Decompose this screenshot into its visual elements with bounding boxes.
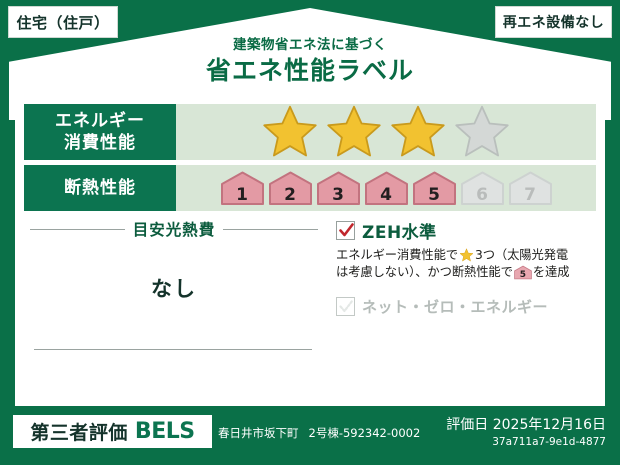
- energy-performance-label: 住宅（住戸） 再エネ設備なし 建築物省エネ法に基づく 省エネ性能ラベル エネルギ…: [0, 0, 620, 465]
- inline-star-icon: [459, 248, 474, 262]
- star-filled-icon: [261, 104, 319, 160]
- insulation-level-number: 5: [412, 187, 457, 204]
- insulation-level-5: 5: [412, 170, 457, 206]
- insulation-level-3: 3: [316, 170, 361, 206]
- insulation-level-2: 2: [268, 170, 313, 206]
- evaluation-id: 37a711a7-9e1d-4877: [446, 436, 606, 448]
- utility-cost-section: 目安光熱費 なし: [24, 218, 324, 368]
- nze-label: ネット・ゼロ・エネルギー: [362, 296, 548, 317]
- insulation-performance-label: 断熱性能: [24, 165, 176, 211]
- label-footer: 第三者評価 BELS 春日井市坂下町2号棟-592342-0002 評価日 20…: [0, 406, 620, 465]
- insulation-level-number: 4: [364, 187, 409, 204]
- inline-house-number: 5: [514, 271, 532, 280]
- insulation-performance-row: 断熱性能 1234567: [24, 165, 596, 211]
- zeh-desc-part1: エネルギー消費性能で: [336, 248, 458, 262]
- zeh-desc-part2: 3つ（太陽光発電: [475, 248, 568, 262]
- star-rating: [261, 104, 511, 160]
- address-text: 春日井市坂下町: [218, 426, 299, 440]
- bels-jp-text: 第三者評価: [30, 418, 128, 445]
- zeh-desc-part4: を達成: [533, 265, 570, 279]
- evaluation-date: 評価日 2025年12月16日: [446, 414, 606, 434]
- energy-label-line2: 消費性能: [64, 132, 136, 154]
- energy-performance-label: エネルギー 消費性能: [24, 104, 176, 160]
- rule-right: [223, 229, 318, 230]
- insulation-level-6: 6: [460, 170, 505, 206]
- utility-cost-header: 目安光熱費: [24, 218, 324, 240]
- insulation-level-number: 1: [220, 187, 265, 204]
- rule-bottom: [34, 349, 312, 350]
- property-address: 春日井市坂下町2号棟-592342-0002: [218, 425, 420, 441]
- insulation-scale: 1234567: [220, 170, 553, 206]
- certification-section: ZEH水準 エネルギー消費性能で3つ（太陽光発電 は考慮しない）、かつ断熱性能で…: [324, 218, 596, 368]
- checkmark-icon: [338, 222, 355, 239]
- zeh-checkbox[interactable]: [336, 221, 355, 240]
- insulation-performance-value: 1234567: [176, 165, 596, 211]
- building-type-tag: 住宅（住戸）: [8, 6, 118, 38]
- energy-performance-value: [176, 104, 596, 160]
- insulation-level-number: 2: [268, 187, 313, 204]
- renewable-energy-tag: 再エネ設備なし: [495, 6, 612, 38]
- title-main: 省エネ性能ラベル: [0, 55, 620, 86]
- page-title: 建築物省エネ法に基づく 省エネ性能ラベル: [0, 38, 620, 86]
- insulation-level-number: 7: [508, 187, 553, 204]
- energy-label-line1: エネルギー: [55, 110, 145, 132]
- bels-logo-text: BELS: [135, 419, 195, 444]
- insulation-level-1: 1: [220, 170, 265, 206]
- inline-house-badge: 5: [514, 265, 532, 280]
- title-subtitle: 建築物省エネ法に基づく: [0, 38, 620, 53]
- rule-left: [30, 229, 125, 230]
- label-body: エネルギー 消費性能 断熱性能 1234567 目安光熱費: [15, 96, 605, 406]
- star-filled-icon: [325, 104, 383, 160]
- nze-check-row[interactable]: ネット・ゼロ・エネルギー: [336, 296, 596, 317]
- star-filled-icon: [389, 104, 447, 160]
- star-empty-icon: [453, 104, 511, 160]
- insulation-level-4: 4: [364, 170, 409, 206]
- evaluation-info: 評価日 2025年12月16日 37a711a7-9e1d-4877: [446, 414, 606, 448]
- insulation-label-line1: 断熱性能: [64, 177, 136, 199]
- insulation-level-number: 3: [316, 187, 361, 204]
- zeh-description: エネルギー消費性能で3つ（太陽光発電 は考慮しない）、かつ断熱性能で5を達成: [336, 247, 596, 282]
- insulation-level-7: 7: [508, 170, 553, 206]
- zeh-check-row[interactable]: ZEH水準: [336, 218, 596, 243]
- nze-checkbox[interactable]: [336, 297, 355, 316]
- zeh-label: ZEH水準: [362, 218, 437, 243]
- building-number: 2号棟-592342-0002: [309, 426, 421, 440]
- utility-cost-value: なし: [24, 273, 324, 303]
- bels-badge: 第三者評価 BELS: [13, 415, 212, 448]
- zeh-desc-part3: は考慮しない）、かつ断熱性能で: [336, 265, 513, 279]
- lower-section: 目安光熱費 なし ZEH水準 エネルギー消費性能で3つ（太陽光発電: [24, 218, 596, 368]
- insulation-level-number: 6: [460, 187, 505, 204]
- checkmark-icon-faint: [338, 298, 355, 315]
- energy-performance-row: エネルギー 消費性能: [24, 104, 596, 160]
- utility-cost-title: 目安光熱費: [133, 218, 216, 240]
